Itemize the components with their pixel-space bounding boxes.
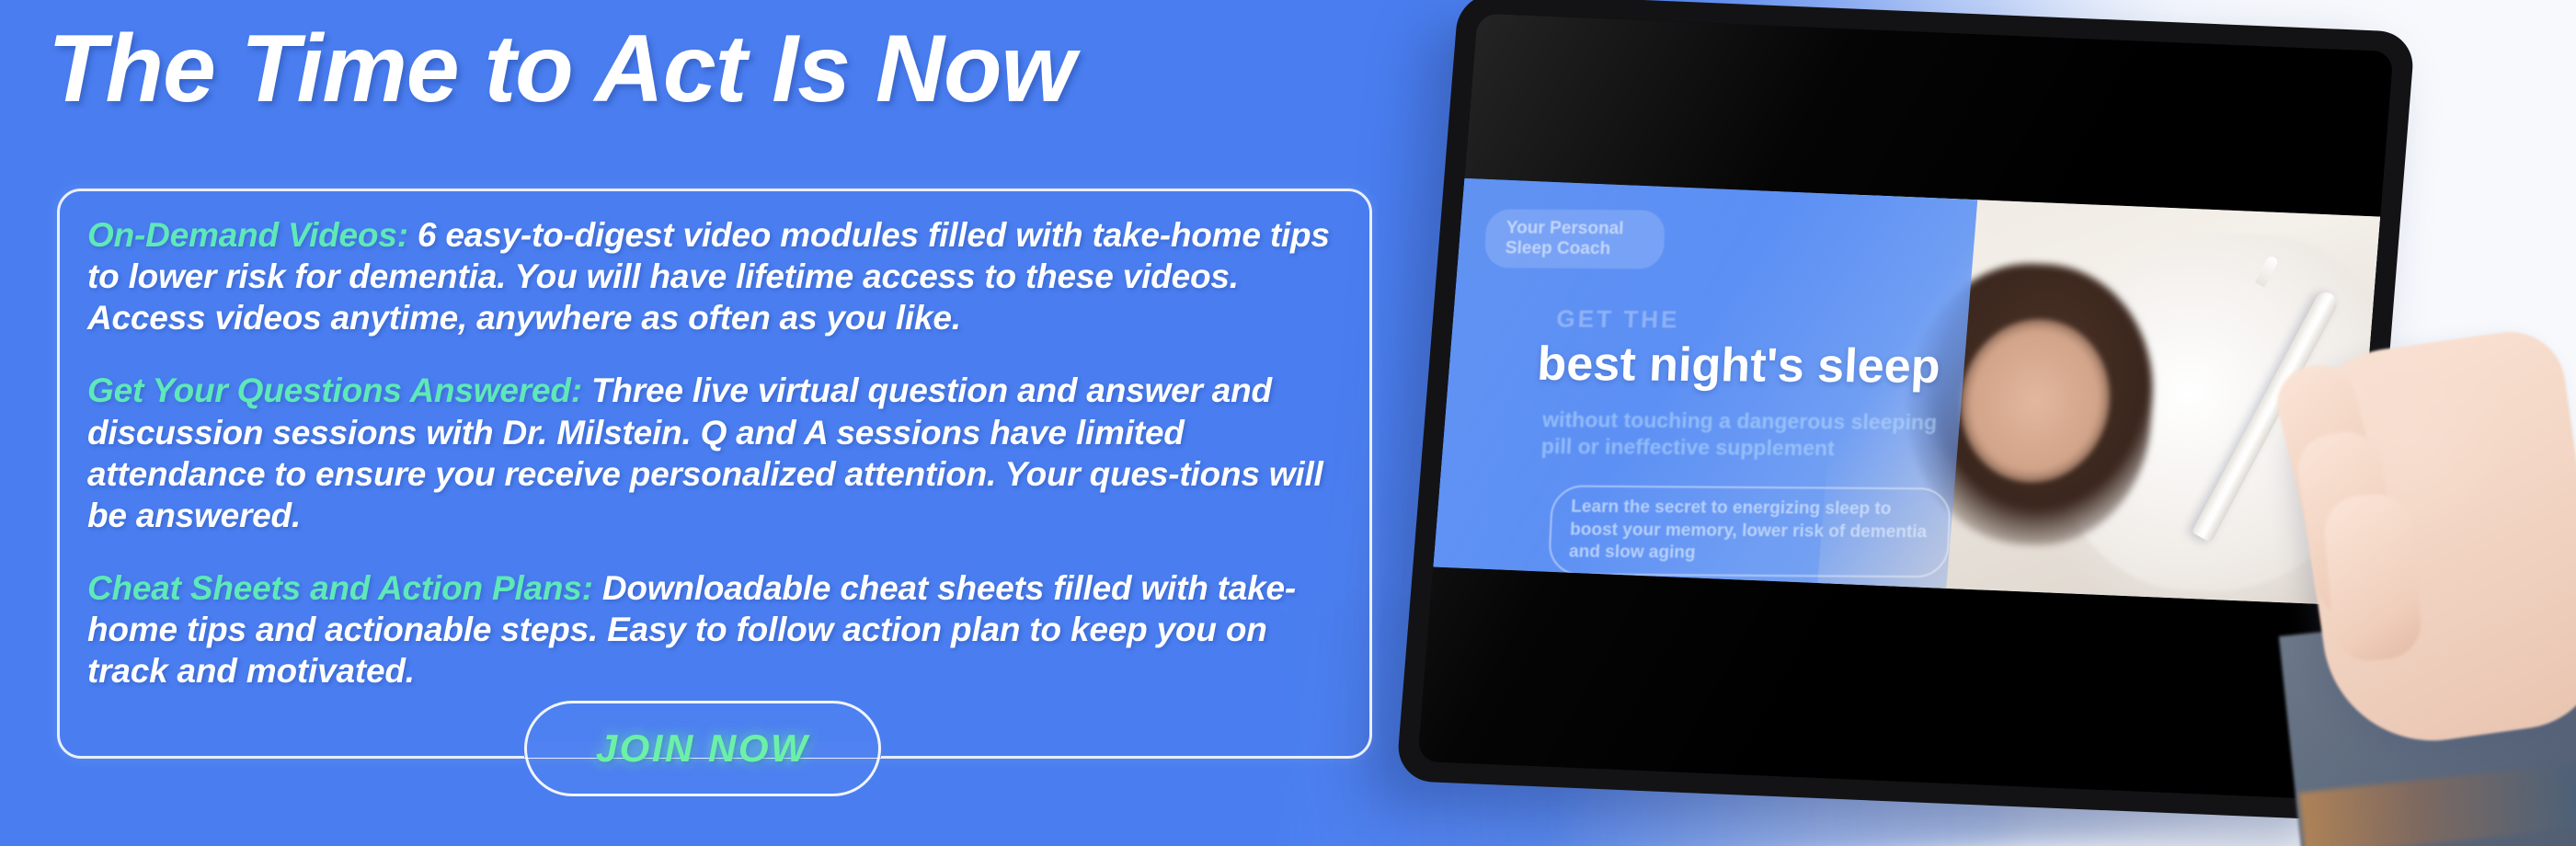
benefit-item-videos: On-Demand Videos: 6 easy-to-digest video… — [87, 214, 1347, 338]
sleep-app-eyebrow: GET THE — [1555, 304, 1679, 334]
tablet-illustration: Your Personal Sleep Coach GET THE best n… — [1372, 0, 2485, 846]
sleep-app-video-area: Your Personal Sleep Coach GET THE best n… — [1433, 177, 2380, 605]
benefits-list: On-Demand Videos: 6 easy-to-digest video… — [87, 214, 1347, 692]
tablet-screen: Your Personal Sleep Coach GET THE best n… — [1417, 13, 2393, 799]
join-now-label: JOIN NOW — [596, 726, 809, 771]
page-title: The Time to Act Is Now — [48, 20, 1074, 118]
sleep-app-panel: Your Personal Sleep Coach GET THE best n… — [1433, 177, 1977, 588]
benefit-lead-videos: On-Demand Videos: — [87, 216, 408, 254]
sleep-coach-badge: Your Personal Sleep Coach — [1484, 209, 1666, 269]
benefit-item-questions: Get Your Questions Answered: Three live … — [87, 370, 1347, 536]
join-now-button[interactable]: JOIN NOW — [524, 701, 881, 796]
promo-banner: Your Personal Sleep Coach GET THE best n… — [0, 0, 2576, 846]
benefit-lead-cheatsheets: Cheat Sheets and Action Plans: — [87, 569, 593, 607]
benefit-lead-questions: Get Your Questions Answered: — [87, 372, 582, 409]
benefit-item-cheatsheets: Cheat Sheets and Action Plans: Downloada… — [87, 567, 1347, 692]
sleep-app-cta-button[interactable]: Learn the secret to energizing sleep to … — [1548, 485, 1952, 577]
sleep-app-headline: best night's sleep — [1536, 337, 1941, 394]
finger — [2321, 491, 2423, 664]
sleep-app-subhead: without touching a dangerous sleeping pi… — [1540, 406, 1944, 462]
